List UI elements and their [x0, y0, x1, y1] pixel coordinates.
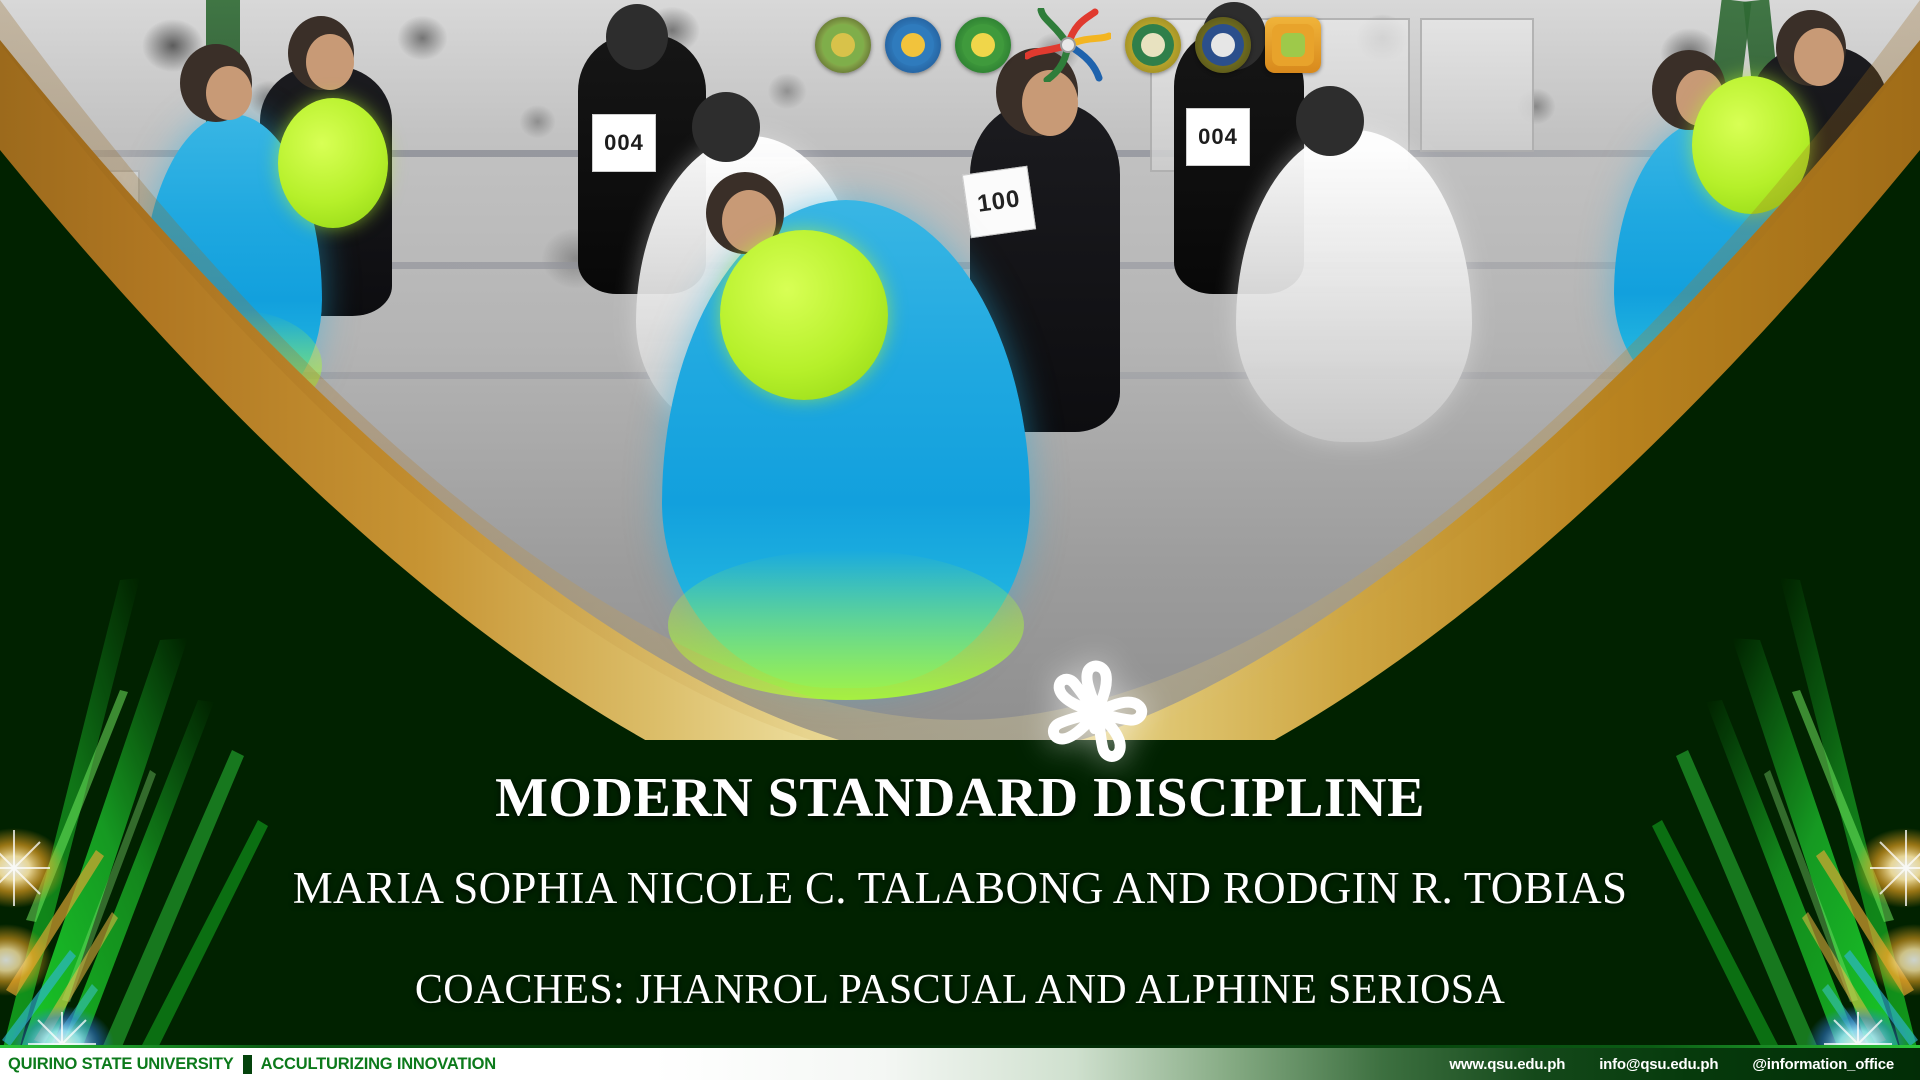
footer-contacts: www.qsu.edu.ph info@qsu.edu.ph @informat…: [1449, 1056, 1920, 1073]
footer-website-link[interactable]: www.qsu.edu.ph: [1449, 1056, 1565, 1073]
gold-swoosh: [0, 0, 1920, 760]
seal-core: [1281, 33, 1305, 57]
seal-icon-4: [1125, 17, 1181, 73]
poster-canvas: 004 004 100: [0, 0, 1920, 1080]
footer-social-handle[interactable]: @information_office: [1752, 1056, 1894, 1073]
page-title: MODERN STANDARD DISCIPLINE: [0, 770, 1920, 826]
footer-divider-icon: [243, 1055, 252, 1074]
seal-core: [971, 33, 995, 57]
seal-core: [901, 33, 925, 57]
footer-accent-line: [0, 1045, 1920, 1048]
partner-logo-row: [815, 8, 1321, 82]
footer-email-link[interactable]: info@qsu.edu.ph: [1599, 1056, 1718, 1073]
poster-text-block: MODERN STANDARD DISCIPLINE MARIA SOPHIA …: [0, 770, 1920, 1011]
seal-icon-1: [815, 17, 871, 73]
seal-core: [1141, 33, 1165, 57]
flower-emblem-icon: [1022, 655, 1172, 780]
seal-icon-3: [955, 17, 1011, 73]
seal-icon-5: [1195, 17, 1251, 73]
ribbon-logo-icon: [1025, 8, 1111, 82]
coaches-line: COACHES: JHANROL PASCUAL AND ALPHINE SER…: [0, 969, 1920, 1011]
seal-core: [831, 33, 855, 57]
footer-branding: QUIRINO STATE UNIVERSITY ACCULTURIZING I…: [0, 1055, 496, 1074]
seal-icon-6: [1265, 17, 1321, 73]
performers-line: MARIA SOPHIA NICOLE C. TALABONG AND RODG…: [0, 866, 1920, 911]
footer-tagline: ACCULTURIZING INNOVATION: [261, 1055, 496, 1074]
seal-icon-2: [885, 17, 941, 73]
footer-bar: QUIRINO STATE UNIVERSITY ACCULTURIZING I…: [0, 1048, 1920, 1080]
footer-university-name: QUIRINO STATE UNIVERSITY: [8, 1055, 234, 1074]
seal-core: [1211, 33, 1235, 57]
